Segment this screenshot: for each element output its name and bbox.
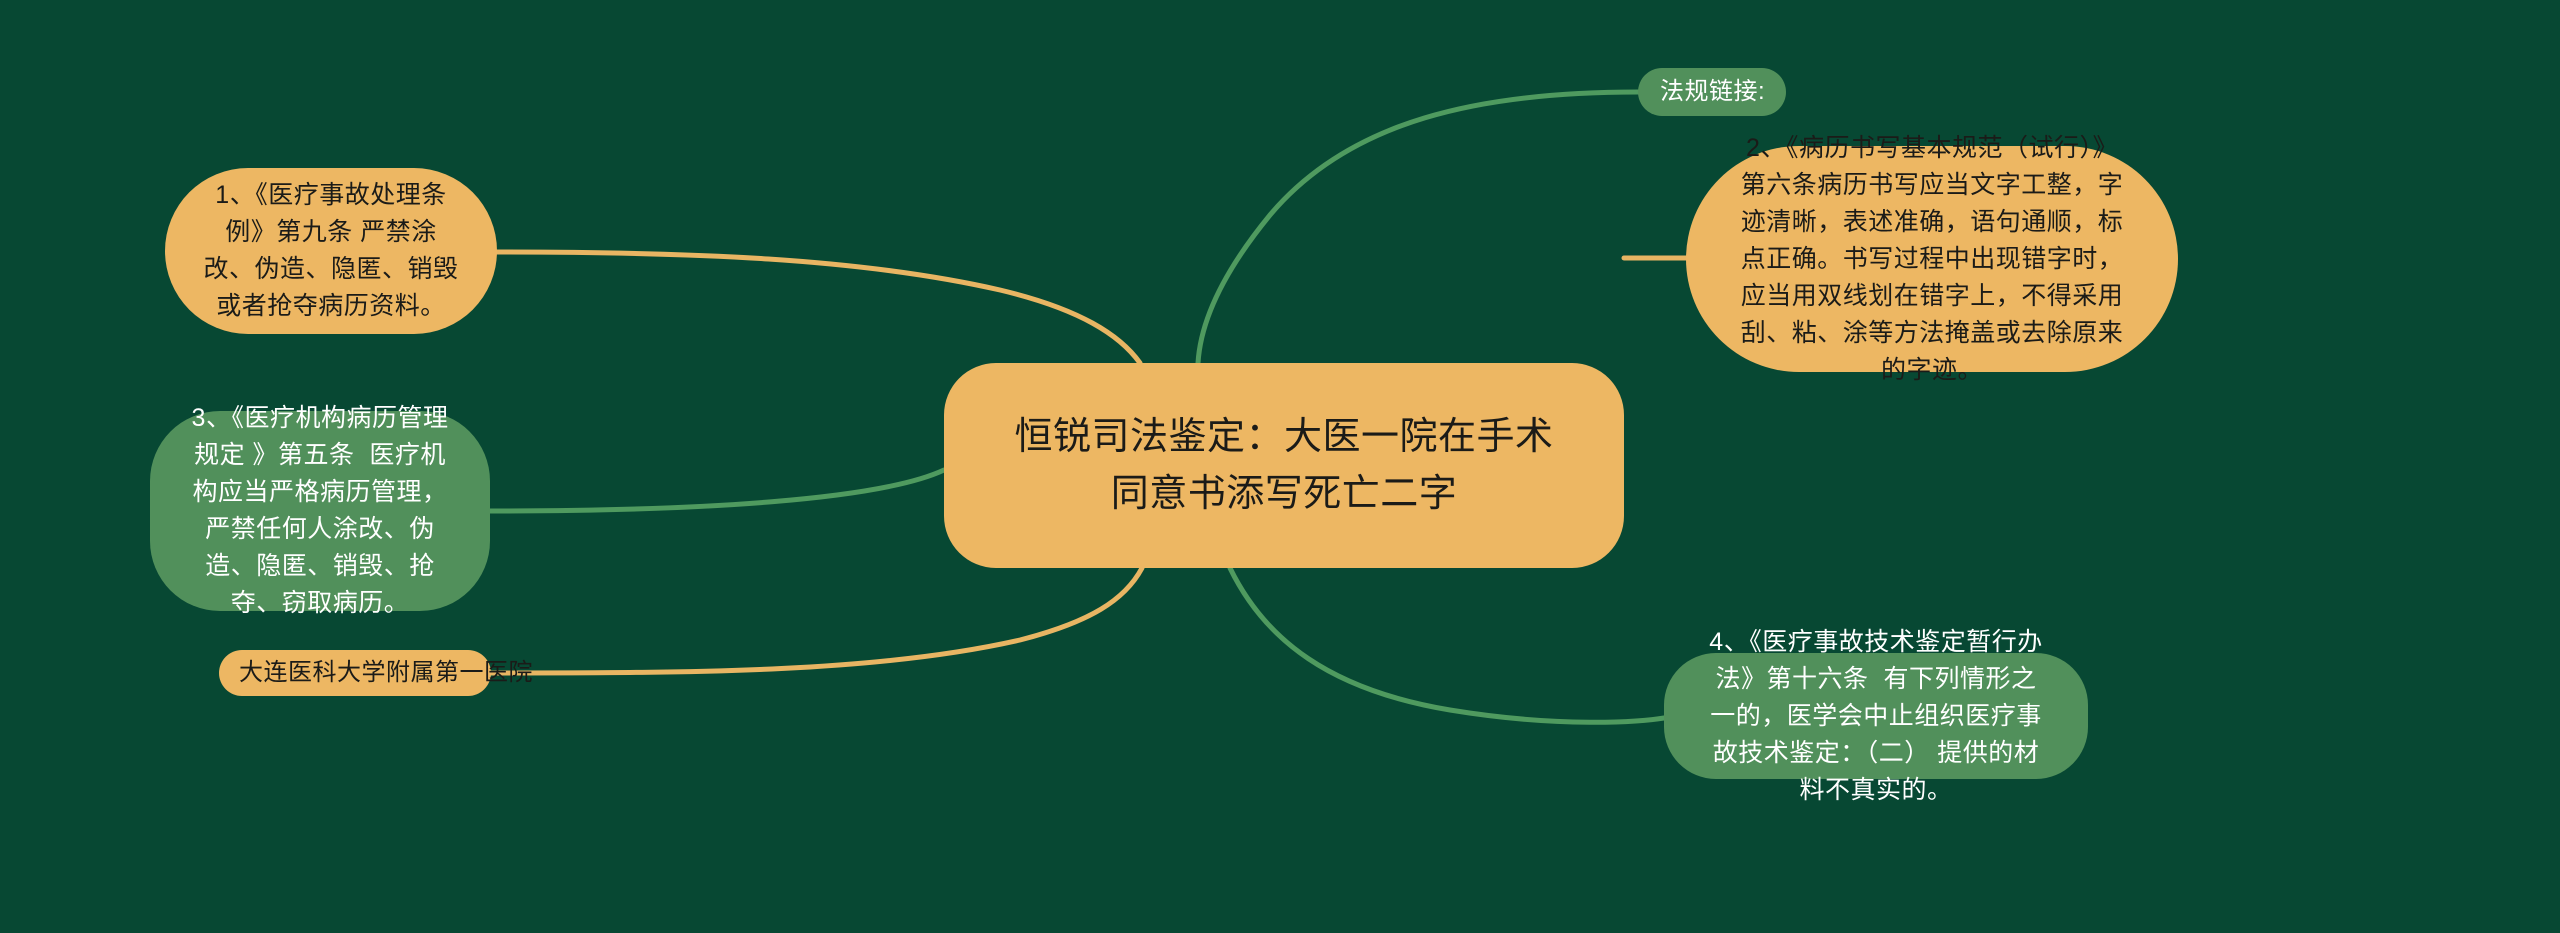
branch-node-hospital[interactable]: 大连医科大学附属第一医院 (219, 650, 491, 696)
branch-node-2-label: 2、《病历书写基本规范（试行）》第六条病历书写应当文字工整，字迹清晰，表述准确，… (1736, 130, 2128, 389)
branch-node-4-label: 4、《医疗事故技术鉴定暂行办法》第十六条 有下列情形之一的，医学会中止组织医疗事… (1708, 624, 2044, 809)
branch-node-1[interactable]: 1、《医疗事故处理条例》第九条 严禁涂改、伪造、隐匿、销毁或者抢夺病历资料。 (165, 168, 497, 334)
mindmap-canvas: 恒锐司法鉴定：大医一院在手术同意书添写死亡二字 1、《医疗事故处理条例》第九条 … (0, 0, 2560, 933)
branch-node-1-label: 1、《医疗事故处理条例》第九条 严禁涂改、伪造、隐匿、销毁或者抢夺病历资料。 (201, 177, 461, 325)
branch-node-legal-links-label: 法规链接: (1660, 74, 1764, 110)
branch-node-3-label: 3、《医疗机构病历管理规定 》第五条 医疗机构应当严格病历管理，严禁任何人涂改、… (184, 400, 456, 622)
branch-node-legal-links[interactable]: 法规链接: (1638, 68, 1786, 116)
connector-center-to-node-4 (1230, 568, 1664, 722)
branch-node-4[interactable]: 4、《医疗事故技术鉴定暂行办法》第十六条 有下列情形之一的，医学会中止组织医疗事… (1664, 653, 2088, 779)
branch-node-2[interactable]: 2、《病历书写基本规范（试行）》第六条病历书写应当文字工整，字迹清晰，表述准确，… (1686, 146, 2178, 372)
connector-center-to-node-link (1198, 92, 1638, 363)
connector-center-to-node-hospital (491, 568, 1142, 673)
connector-center-to-node-1 (497, 252, 1140, 363)
branch-node-hospital-label: 大连医科大学附属第一医院 (239, 655, 471, 691)
center-node[interactable]: 恒锐司法鉴定：大医一院在手术同意书添写死亡二字 (944, 363, 1624, 568)
connector-center-to-node-3 (490, 470, 944, 511)
center-node-label: 恒锐司法鉴定：大医一院在手术同意书添写死亡二字 (998, 409, 1570, 521)
branch-node-3[interactable]: 3、《医疗机构病历管理规定 》第五条 医疗机构应当严格病历管理，严禁任何人涂改、… (150, 411, 490, 611)
